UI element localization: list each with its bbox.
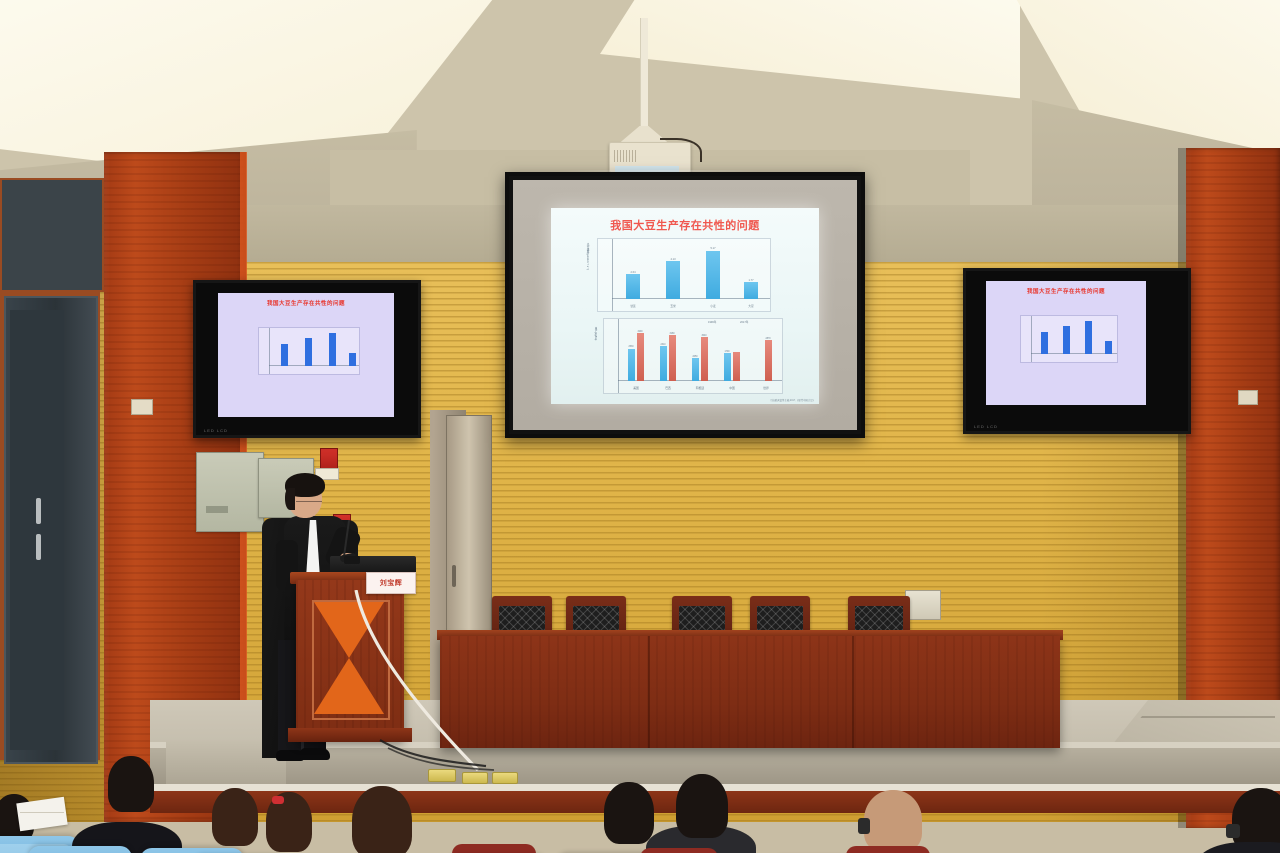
projected-slide: 我国大豆生产存在共性的问题 光合速率(μmol m⁻² s⁻¹) 2.64 4.… bbox=[551, 208, 819, 404]
top-chart-ylabel: 光合速率(μmol m⁻² s⁻¹) bbox=[585, 243, 589, 270]
electrical-panel-left bbox=[196, 452, 264, 532]
bottom-chart-value-label: 2530 bbox=[628, 346, 633, 348]
bottom-chart-xtick: 巴西 bbox=[665, 386, 671, 390]
column-plate-right bbox=[1238, 390, 1258, 405]
table-panel-seam bbox=[648, 636, 650, 748]
projection-screen-surface: 我国大豆生产存在共性的问题 光合速率(μmol m⁻² s⁻¹) 2.64 4.… bbox=[513, 180, 857, 430]
speaker-name-text: 刘宝辉 bbox=[380, 578, 403, 588]
bottom-chart-bar bbox=[669, 335, 676, 381]
projector-mount-rod bbox=[640, 18, 648, 130]
top-chart-bar bbox=[666, 261, 680, 299]
top-chart-value-label: 5.17 bbox=[710, 247, 715, 250]
monitor-chart-bar bbox=[349, 353, 356, 366]
speaker-face-line bbox=[296, 496, 322, 502]
seat-back-red bbox=[452, 844, 536, 853]
audience-head bbox=[604, 782, 654, 844]
transom-window-left bbox=[0, 178, 104, 292]
seat-back-red bbox=[846, 846, 930, 853]
bottom-chart-value-label: 3290 bbox=[637, 331, 642, 333]
eyeglasses-icon bbox=[858, 818, 870, 834]
bottom-chart-bar bbox=[692, 358, 699, 381]
top-chart-bar bbox=[744, 282, 758, 299]
bottom-chart-bar bbox=[701, 337, 708, 381]
lcd-monitor-right-screen: 我国大豆生产存在共性的问题 bbox=[986, 281, 1146, 405]
monitor-chart-bar bbox=[1041, 332, 1048, 354]
bottom-chart-bar bbox=[724, 353, 731, 381]
audience-head bbox=[864, 790, 922, 852]
lcd-monitor-left: 我国大豆生产存在共性的问题 bbox=[193, 280, 421, 438]
door-handle-upper[interactable] bbox=[36, 498, 41, 524]
electrical-panel-label bbox=[206, 506, 228, 513]
audience-head bbox=[352, 786, 412, 853]
top-chart-bar bbox=[706, 251, 720, 299]
door-handle-lower[interactable] bbox=[36, 534, 41, 560]
top-chart-value-label: 4.13 bbox=[670, 258, 675, 261]
monitor-chart-bar bbox=[305, 338, 312, 366]
monitor-top-chart bbox=[1020, 315, 1118, 363]
audience-seat[interactable] bbox=[140, 848, 244, 853]
audience-head bbox=[212, 788, 258, 846]
wall-control-plate-right[interactable] bbox=[905, 590, 941, 620]
slide-title: 我国大豆生产存在共性的问题 bbox=[551, 217, 819, 233]
speaker-hair-side bbox=[285, 488, 295, 510]
conference-table bbox=[440, 636, 1060, 748]
audience-front-row bbox=[0, 760, 1280, 853]
table-panel-seam bbox=[852, 636, 854, 748]
top-chart-plot: 2.64 4.13 5.17 1.77 bbox=[612, 243, 766, 299]
side-door-handle[interactable] bbox=[452, 565, 456, 587]
hair-tie-icon bbox=[272, 796, 284, 804]
lcd-monitor-right: 我国大豆生产存在共性的问题 bbox=[963, 268, 1191, 434]
lcd-monitor-left-screen: 我国大豆生产存在共性的问题 bbox=[218, 293, 394, 417]
bottom-chart-bar bbox=[733, 352, 740, 381]
bottom-chart-value-label: 1790 bbox=[724, 351, 729, 353]
monitor-chart-bar bbox=[329, 333, 336, 366]
audience-shoulders bbox=[1196, 842, 1280, 853]
bottom-chart-value-label: 2050 bbox=[692, 356, 697, 358]
bottom-chart-legend-entry: 2017年 bbox=[740, 320, 748, 324]
bottom-chart-plot: 2530 3290 2310 3180 2050 3040 1790 2870 bbox=[618, 327, 778, 381]
monitor-left-brand-label: LED LCD bbox=[204, 428, 228, 433]
monitor-slide-title: 我国大豆生产存在共性的问题 bbox=[218, 299, 394, 307]
notebook-line bbox=[20, 812, 64, 813]
top-chart-xtick: 甘蔗 bbox=[630, 304, 636, 308]
audience-head bbox=[676, 774, 728, 838]
bottom-chart-bar bbox=[660, 346, 667, 381]
bottom-chart-value-label: 3040 bbox=[701, 335, 706, 337]
bottom-chart-legend-entry: 1996年 bbox=[708, 320, 716, 324]
bottom-chart-value-label: 2310 bbox=[660, 344, 665, 346]
seat-back-red bbox=[640, 848, 718, 853]
bottom-chart-value-label: 2870 bbox=[765, 338, 770, 340]
top-chart-bar bbox=[626, 274, 640, 299]
top-chart-value-label: 2.64 bbox=[630, 271, 635, 274]
top-chart-value-label: 1.77 bbox=[748, 279, 753, 282]
monitor-right-brand-label: LED LCD bbox=[974, 424, 998, 429]
bottom-chart-bar bbox=[637, 333, 644, 381]
bottom-chart-bar bbox=[628, 349, 635, 381]
slide-source-note: 引自韩天富等主编,2017,《现代中国大豆》 bbox=[770, 398, 815, 402]
top-chart-xtick: 小麦 bbox=[710, 304, 716, 308]
column-plate-left bbox=[131, 399, 153, 415]
top-chart: 光合速率(μmol m⁻² s⁻¹) 2.64 4.13 5.17 1.77 甘… bbox=[597, 238, 771, 312]
door-glass-panel bbox=[10, 310, 64, 750]
monitor-top-chart-y-axis bbox=[269, 328, 270, 374]
projection-screen: 我国大豆生产存在共性的问题 光合速率(μmol m⁻² s⁻¹) 2.64 4.… bbox=[505, 172, 865, 438]
eyeglasses-icon bbox=[1226, 824, 1240, 838]
monitor-slide-title: 我国大豆生产存在共性的问题 bbox=[986, 287, 1146, 295]
bottom-chart-bar bbox=[765, 340, 772, 381]
top-chart-xtick: 玉米 bbox=[670, 304, 676, 308]
audience-head bbox=[108, 756, 154, 812]
top-chart-xtick: 大豆 bbox=[748, 304, 754, 308]
monitor-chart-bar bbox=[1105, 341, 1112, 354]
bottom-chart-ylabel: 单产(kg/ha) bbox=[593, 327, 597, 340]
bottom-chart-xtick: 世界 bbox=[763, 386, 769, 390]
lecture-hall-photo: 我国大豆生产存在共性的问题 光合速率(μmol m⁻² s⁻¹) 2.64 4.… bbox=[0, 0, 1280, 853]
bottom-chart-xtick: 阿根廷 bbox=[696, 386, 704, 390]
presentation-remote-icon[interactable] bbox=[344, 556, 360, 564]
bottom-chart-value-label: 3180 bbox=[669, 333, 674, 335]
bottom-chart: 单产(kg/ha) 1996年 2017年 bbox=[603, 318, 783, 394]
monitor-top-chart bbox=[258, 327, 360, 375]
monitor-chart-bar bbox=[1063, 326, 1070, 354]
monitor-top-chart-y-axis bbox=[1031, 316, 1032, 362]
projector-vent-icon bbox=[614, 150, 636, 162]
monitor-chart-bar bbox=[1085, 321, 1092, 354]
bottom-chart-xtick: 中国 bbox=[729, 386, 735, 390]
ceiling-light-panel-center bbox=[600, 0, 1020, 108]
audience-seat[interactable] bbox=[28, 846, 132, 853]
bottom-chart-xtick: 美国 bbox=[633, 386, 639, 390]
monitor-chart-bar bbox=[281, 344, 288, 366]
